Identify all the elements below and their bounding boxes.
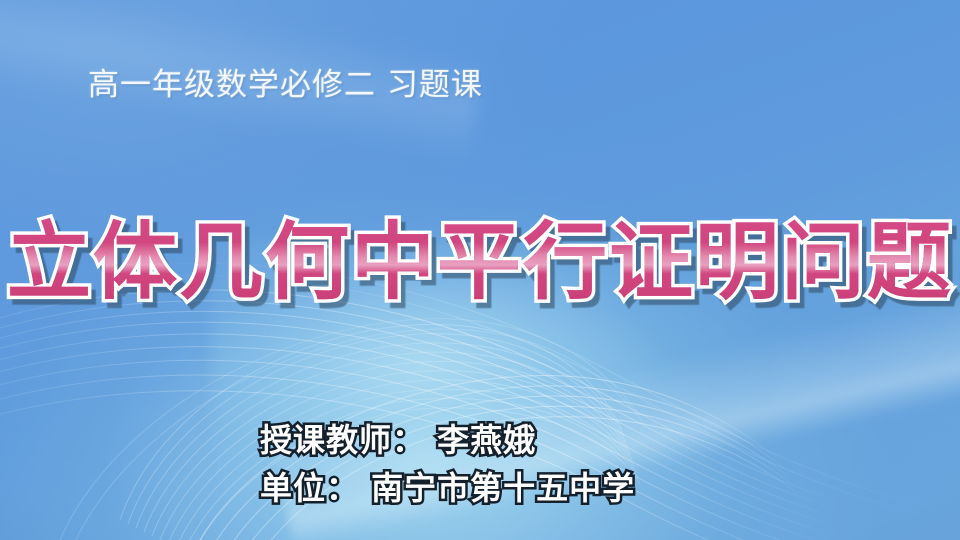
slide-title: 立体几何中平行证明问题 立体几何中平行证明问题 立体几何中平行证明问题 立体几何… xyxy=(7,220,953,304)
credit-line-teacher: 授课教师： 李燕娥 授课教师： 李燕娥 xyxy=(260,416,635,464)
course-subtitle: 高一年级数学必修二 习题课 xyxy=(88,70,483,101)
credit-line-teacher-text: 授课教师： 李燕娥 xyxy=(260,421,536,459)
slide-title-text: 立体几何中平行证明问题 xyxy=(7,213,953,311)
credit-line-school: 单位： 南宁市第十五中学 单位： 南宁市第十五中学 xyxy=(260,464,635,512)
title-container: 立体几何中平行证明问题 立体几何中平行证明问题 立体几何中平行证明问题 立体几何… xyxy=(0,214,960,310)
credits-block: 授课教师： 李燕娥 授课教师： 李燕娥 单位： 南宁市第十五中学 单位： 南宁市… xyxy=(260,416,635,512)
presentation-title-slide: 高一年级数学必修二 习题课 立体几何中平行证明问题 立体几何中平行证明问题 立体… xyxy=(0,0,960,540)
credit-line-school-text: 单位： 南宁市第十五中学 xyxy=(260,469,635,507)
